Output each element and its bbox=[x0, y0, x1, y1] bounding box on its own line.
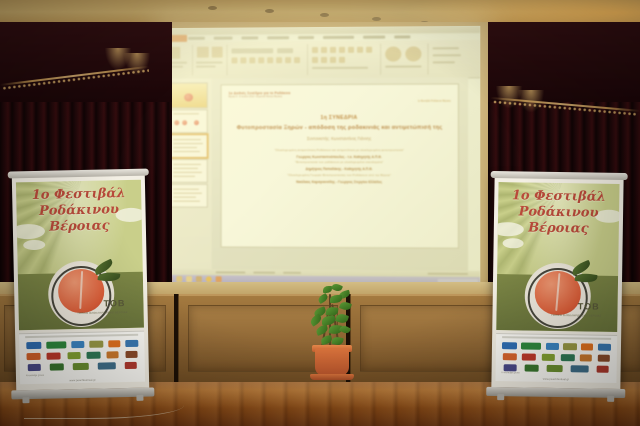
sponsor-logo bbox=[580, 354, 592, 361]
current-slide: 1ο Διεθνές Συνέδριο για το Ροδάκινο Βέρο… bbox=[221, 83, 459, 248]
slide-thumbnail[interactable] bbox=[169, 184, 207, 208]
banner-artwork: 1ο Φεστιβάλ Ροδάκινου Βέροιας ΤΟΒ ΤΟΠΙΚΟ… bbox=[16, 180, 144, 331]
sponsor-logo bbox=[522, 353, 536, 360]
potted-plant bbox=[300, 282, 362, 386]
banner-title-line2: Ροδάκινου bbox=[498, 204, 619, 222]
ribbon-group-paragraph[interactable] bbox=[308, 44, 381, 75]
ribbon-group-drawing[interactable] bbox=[381, 43, 428, 74]
sponsor-logo bbox=[521, 342, 541, 349]
sponsor-logo bbox=[502, 342, 517, 349]
banner-sponsor-strip: Knowledge grows www.peachfestival.gr bbox=[19, 331, 145, 385]
slide-header: 1ο Διεθνές Συνέδριο για το Ροδάκινο bbox=[229, 91, 291, 96]
cloud-shape bbox=[503, 238, 524, 248]
sponsor-logo bbox=[542, 354, 555, 361]
banner-foot bbox=[497, 394, 504, 400]
sponsor-caption-rule bbox=[502, 336, 611, 340]
sponsor-logo bbox=[67, 352, 80, 359]
sponsor-logo bbox=[581, 343, 593, 350]
banner-foot bbox=[22, 397, 29, 403]
sponsor-logo bbox=[71, 341, 84, 348]
slide-program-list: "Ολοκληρωμένη αντιμετώπιση Ροδάκινου και… bbox=[235, 148, 443, 186]
rollup-banner-left: 1ο Φεστιβάλ Ροδάκινου Βέροιας ΤΟΒ ΤΟΠΙΚΟ… bbox=[12, 173, 149, 391]
sponsor-logo bbox=[50, 363, 64, 370]
banner-title: 1ο Φεστιβάλ Ροδάκινου Βέροιας bbox=[498, 188, 620, 237]
pot-saucer bbox=[310, 374, 354, 380]
banner-title-line1: 1ο Φεστιβάλ bbox=[16, 186, 141, 204]
slide-thumbnail-selected[interactable] bbox=[169, 134, 207, 158]
photo-scene: 1ο Διεθνές Συνέδριο για το Ροδάκινο Βέρο… bbox=[0, 0, 640, 426]
slide-thumbnail[interactable] bbox=[169, 159, 207, 183]
ribbon-tab[interactable] bbox=[188, 37, 205, 40]
sponsor-row bbox=[23, 339, 140, 350]
banner-foot bbox=[607, 396, 614, 402]
terracotta-pot bbox=[315, 348, 349, 376]
sponsor-logo bbox=[26, 342, 41, 349]
ribbon-group-slides[interactable] bbox=[193, 45, 228, 76]
sponsor-logo bbox=[563, 343, 577, 350]
sponsor-logo bbox=[125, 340, 138, 347]
sponsor-row bbox=[500, 341, 613, 352]
ribbon-group-font[interactable] bbox=[228, 44, 308, 75]
projection-screen: 1ο Διεθνές Συνέδριο για το Ροδάκινο Βέρο… bbox=[164, 26, 480, 285]
ribbon-tab[interactable] bbox=[323, 36, 354, 39]
banner-foot bbox=[136, 395, 143, 401]
sponsor-logo bbox=[27, 353, 41, 360]
sponsor-caption-rule bbox=[25, 334, 138, 338]
sponsor-logo bbox=[73, 363, 89, 370]
sponsor-logo bbox=[124, 362, 136, 369]
sponsor-logo bbox=[503, 353, 517, 360]
banner-title-line1: 1ο Φεστιβάλ bbox=[498, 188, 619, 206]
sponsor-logo bbox=[597, 366, 609, 373]
tob-logo: ΤΟΒ bbox=[104, 298, 126, 308]
sponsor-logo bbox=[571, 365, 589, 372]
banner-artwork: 1ο Φεστιβάλ Ροδάκινου Βέροιας ΤΟΒ ΤΟΠΙΚΟ… bbox=[496, 182, 619, 332]
ribbon-tab[interactable] bbox=[241, 36, 258, 39]
ceiling-spot-icon bbox=[320, 13, 329, 17]
slide-session-title: Φυτοπροστασία Ξηρών - απόδοση της ροδακι… bbox=[222, 125, 458, 131]
sponsor-logo bbox=[546, 343, 559, 350]
sponsor-logo bbox=[97, 362, 115, 369]
plant-foliage bbox=[302, 282, 360, 352]
sponsor-logo bbox=[504, 364, 517, 371]
sponsor-logo bbox=[561, 354, 575, 361]
sponsor-logo bbox=[125, 351, 137, 358]
sponsor-logo bbox=[547, 365, 563, 372]
sponsor-row bbox=[23, 350, 140, 361]
banner-sponsor-strip: Knowledge grows www.peachfestival.gr bbox=[495, 333, 617, 383]
slide-header-subtitle: Βέροια 6 - 8 Ιουλίου 2012 • Δημοτικό Θέα… bbox=[229, 96, 283, 98]
ribbon-group-editing[interactable] bbox=[429, 43, 465, 74]
tob-logo: ΤΟΒ bbox=[578, 301, 600, 311]
banner-url: www.peachfestival.gr bbox=[20, 378, 145, 384]
sponsor-logo bbox=[598, 355, 610, 362]
sponsor-logo bbox=[107, 351, 119, 358]
status-slide-indicator bbox=[216, 271, 246, 273]
sponsor-row bbox=[24, 361, 141, 372]
ribbon-tab[interactable] bbox=[214, 37, 233, 40]
banner-top-rail bbox=[491, 171, 628, 180]
curtain-tassel-left bbox=[124, 53, 150, 75]
sponsor-logo bbox=[525, 364, 539, 371]
ppt-ribbon[interactable] bbox=[164, 40, 480, 80]
sponsor-tagline: Knowledge grows bbox=[502, 372, 520, 374]
curtain-tassel-right bbox=[518, 90, 544, 112]
program-speaker: Νικόλαος Καραγιαννίδης - Γεώργιος Στεργί… bbox=[235, 179, 443, 186]
ribbon-tab[interactable] bbox=[298, 36, 314, 39]
ceiling-spot-icon bbox=[372, 17, 381, 21]
sponsor-tagline: Knowledge grows bbox=[26, 375, 44, 377]
rollup-banner-right: 1ο Φεστιβάλ Ροδάκινου Βέροιας ΤΟΒ ΤΟΠΙΚΟ… bbox=[491, 175, 623, 389]
banner-title-line3: Βέροιας bbox=[17, 217, 142, 235]
sponsor-logo bbox=[28, 364, 41, 371]
sponsor-row bbox=[500, 352, 613, 363]
sponsor-logo bbox=[46, 341, 66, 348]
sponsor-logo bbox=[598, 344, 611, 351]
ribbon-tab[interactable] bbox=[363, 36, 385, 39]
status-language-label bbox=[283, 272, 301, 274]
slide-header-right: 1ο Φεστιβάλ Ροδάκινου Βέροιας bbox=[418, 101, 451, 103]
sponsor-logo bbox=[89, 341, 103, 348]
sponsor-logo bbox=[47, 352, 61, 359]
sponsor-logo bbox=[87, 352, 101, 359]
ceiling-spot-icon bbox=[208, 6, 217, 10]
sponsor-logo bbox=[108, 340, 120, 347]
status-theme-label bbox=[253, 272, 275, 274]
status-zoom-slider[interactable] bbox=[428, 273, 469, 275]
ceiling-spot-icon bbox=[265, 9, 274, 13]
slide-moderator: Συντονιστής: Κωνσταντίνος Γιάννης bbox=[222, 136, 458, 141]
ribbon-tab[interactable] bbox=[267, 36, 289, 39]
banner-url: www.peachfestival.gr bbox=[495, 377, 616, 382]
ribbon-tab[interactable] bbox=[394, 35, 410, 38]
slide-thumbnail[interactable] bbox=[169, 109, 207, 133]
slide-canvas[interactable]: 1ο Διεθνές Συνέδριο για το Ροδάκινο Βέρο… bbox=[212, 77, 468, 271]
slide-session-number: 1η ΣΥΝΕΔΡΙΑ bbox=[222, 115, 458, 121]
slide-thumbnail[interactable] bbox=[169, 82, 207, 108]
cloud-shape bbox=[23, 240, 45, 250]
banner-title: 1ο Φεστιβάλ Ροδάκινου Βέροιας bbox=[16, 186, 142, 236]
banner-title-line3: Βέροιας bbox=[498, 220, 619, 238]
